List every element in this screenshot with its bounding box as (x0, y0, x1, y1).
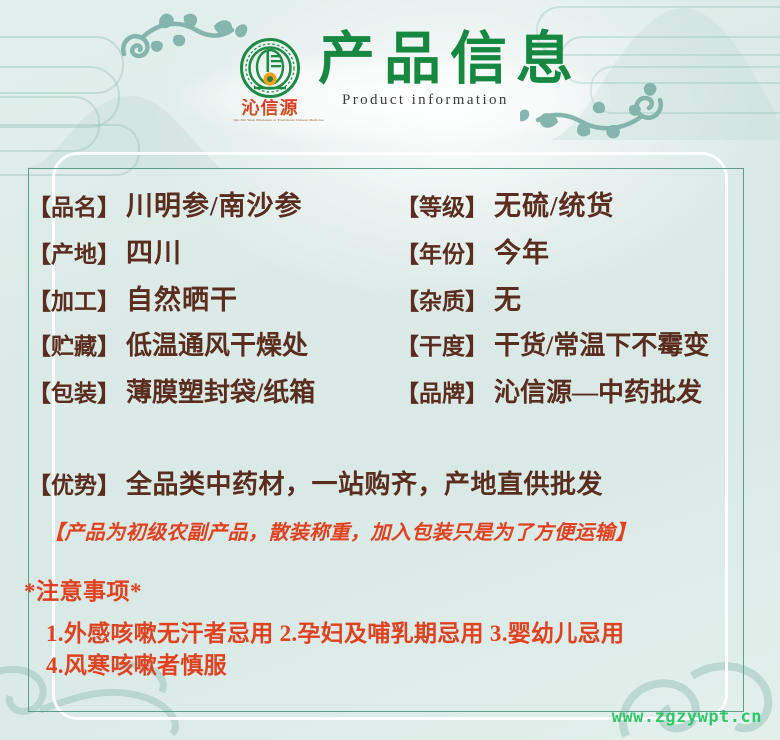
page-title: 产品信息 (318, 30, 718, 90)
spec-value: 川明参/南沙参 (126, 184, 303, 223)
circular-seal-logo-icon (240, 38, 300, 98)
spec-value: 自然晒干 (126, 278, 238, 317)
spec-cell: 【品牌】 沁信源—中药批发 (396, 372, 702, 409)
spec-row: 【加工】 自然晒干 【杂质】 无 (0, 278, 780, 325)
spec-cell: 【干度】 干货/常温下不霉变 (396, 325, 709, 362)
spec-cell: 【贮藏】 低温通风干燥处 (28, 325, 308, 362)
spec-cell: 【产地】 四川 (28, 231, 182, 270)
spec-cell: 【等级】 无硫/统货 (396, 184, 615, 223)
spec-label: 【品名】 (28, 188, 120, 222)
spec-label: 【年份】 (396, 235, 488, 269)
brand-name-cn: 沁信源 (232, 99, 308, 117)
spec-label: 【等级】 (396, 188, 488, 222)
spec-cell: 【年份】 今年 (396, 231, 550, 270)
spec-row: 【贮藏】 低温通风干燥处 【干度】 干货/常温下不霉变 (0, 325, 780, 372)
spec-label: 【品牌】 (396, 374, 488, 408)
page-header: 沁信源 Qin Xin Yuan Wholesale of Traditiona… (0, 0, 780, 148)
spec-row: 【包装】 薄膜塑封袋/纸箱 【品牌】 沁信源—中药批发 (0, 372, 780, 419)
spec-value: 低温通风干燥处 (126, 325, 308, 362)
site-watermark: www.zgzywpt.cn (612, 707, 762, 727)
spec-cell: 【加工】 自然晒干 (28, 278, 238, 317)
spec-label: 【加工】 (28, 282, 120, 316)
product-information-page: 沁信源 Qin Xin Yuan Wholesale of Traditiona… (0, 0, 780, 740)
spec-row: 【品名】 川明参/南沙参 【等级】 无硫/统货 (0, 184, 780, 231)
spec-value: 干货/常温下不霉变 (494, 325, 709, 362)
caution-line: 4.风寒咳嗽者慎服 (46, 646, 227, 680)
spec-value: 无 (494, 278, 522, 317)
spec-value: 四川 (126, 231, 182, 270)
spec-label: 【产地】 (28, 235, 120, 269)
spec-value: 薄膜塑封袋/纸箱 (126, 372, 315, 409)
spec-value: 沁信源—中药批发 (494, 372, 702, 409)
brand-logo: 沁信源 Qin Xin Yuan Wholesale of Traditiona… (232, 38, 308, 134)
spec-label: 【包装】 (28, 374, 120, 408)
product-spec-content: 【品名】 川明参/南沙参 【等级】 无硫/统货 【产地】 四川 【年份】 今年 (0, 168, 780, 712)
spec-label: 【贮藏】 (28, 327, 120, 361)
spec-value: 无硫/统货 (494, 184, 615, 223)
spec-cell: 【杂质】 无 (396, 278, 522, 317)
spec-cell: 【品名】 川明参/南沙参 (28, 184, 303, 223)
advantage-label: 【优势】 (28, 466, 120, 500)
advantage-row: 【优势】 全品类中药材，一站购齐，产地直供批发 (28, 464, 603, 501)
brand-name-en: Qin Xin Yuan Wholesale of Traditional Ch… (234, 119, 307, 123)
spec-cell: 【包装】 薄膜塑封袋/纸箱 (28, 372, 315, 409)
vine-scroll-ornament-left-icon (118, 8, 250, 72)
spec-row: 【产地】 四川 【年份】 今年 (0, 231, 780, 278)
spec-label: 【杂质】 (396, 282, 488, 316)
advantage-value: 全品类中药材，一站购齐，产地直供批发 (126, 464, 603, 501)
product-note: 【产品为初级农副产品，散装称重，加入包装只是为了方便运输】 (44, 516, 764, 545)
page-subtitle: Product information (342, 92, 718, 109)
caution-line: 1.外感咳嗽无汗者忌用 2.孕妇及哺乳期忌用 3.婴幼儿忌用 (46, 614, 624, 648)
spec-grid: 【品名】 川明参/南沙参 【等级】 无硫/统货 【产地】 四川 【年份】 今年 (0, 184, 780, 419)
caution-title: *注意事项* (24, 572, 142, 606)
title-block: 产品信息 Product information (318, 30, 718, 109)
spec-value: 今年 (494, 231, 550, 270)
spec-label: 【干度】 (396, 327, 488, 361)
